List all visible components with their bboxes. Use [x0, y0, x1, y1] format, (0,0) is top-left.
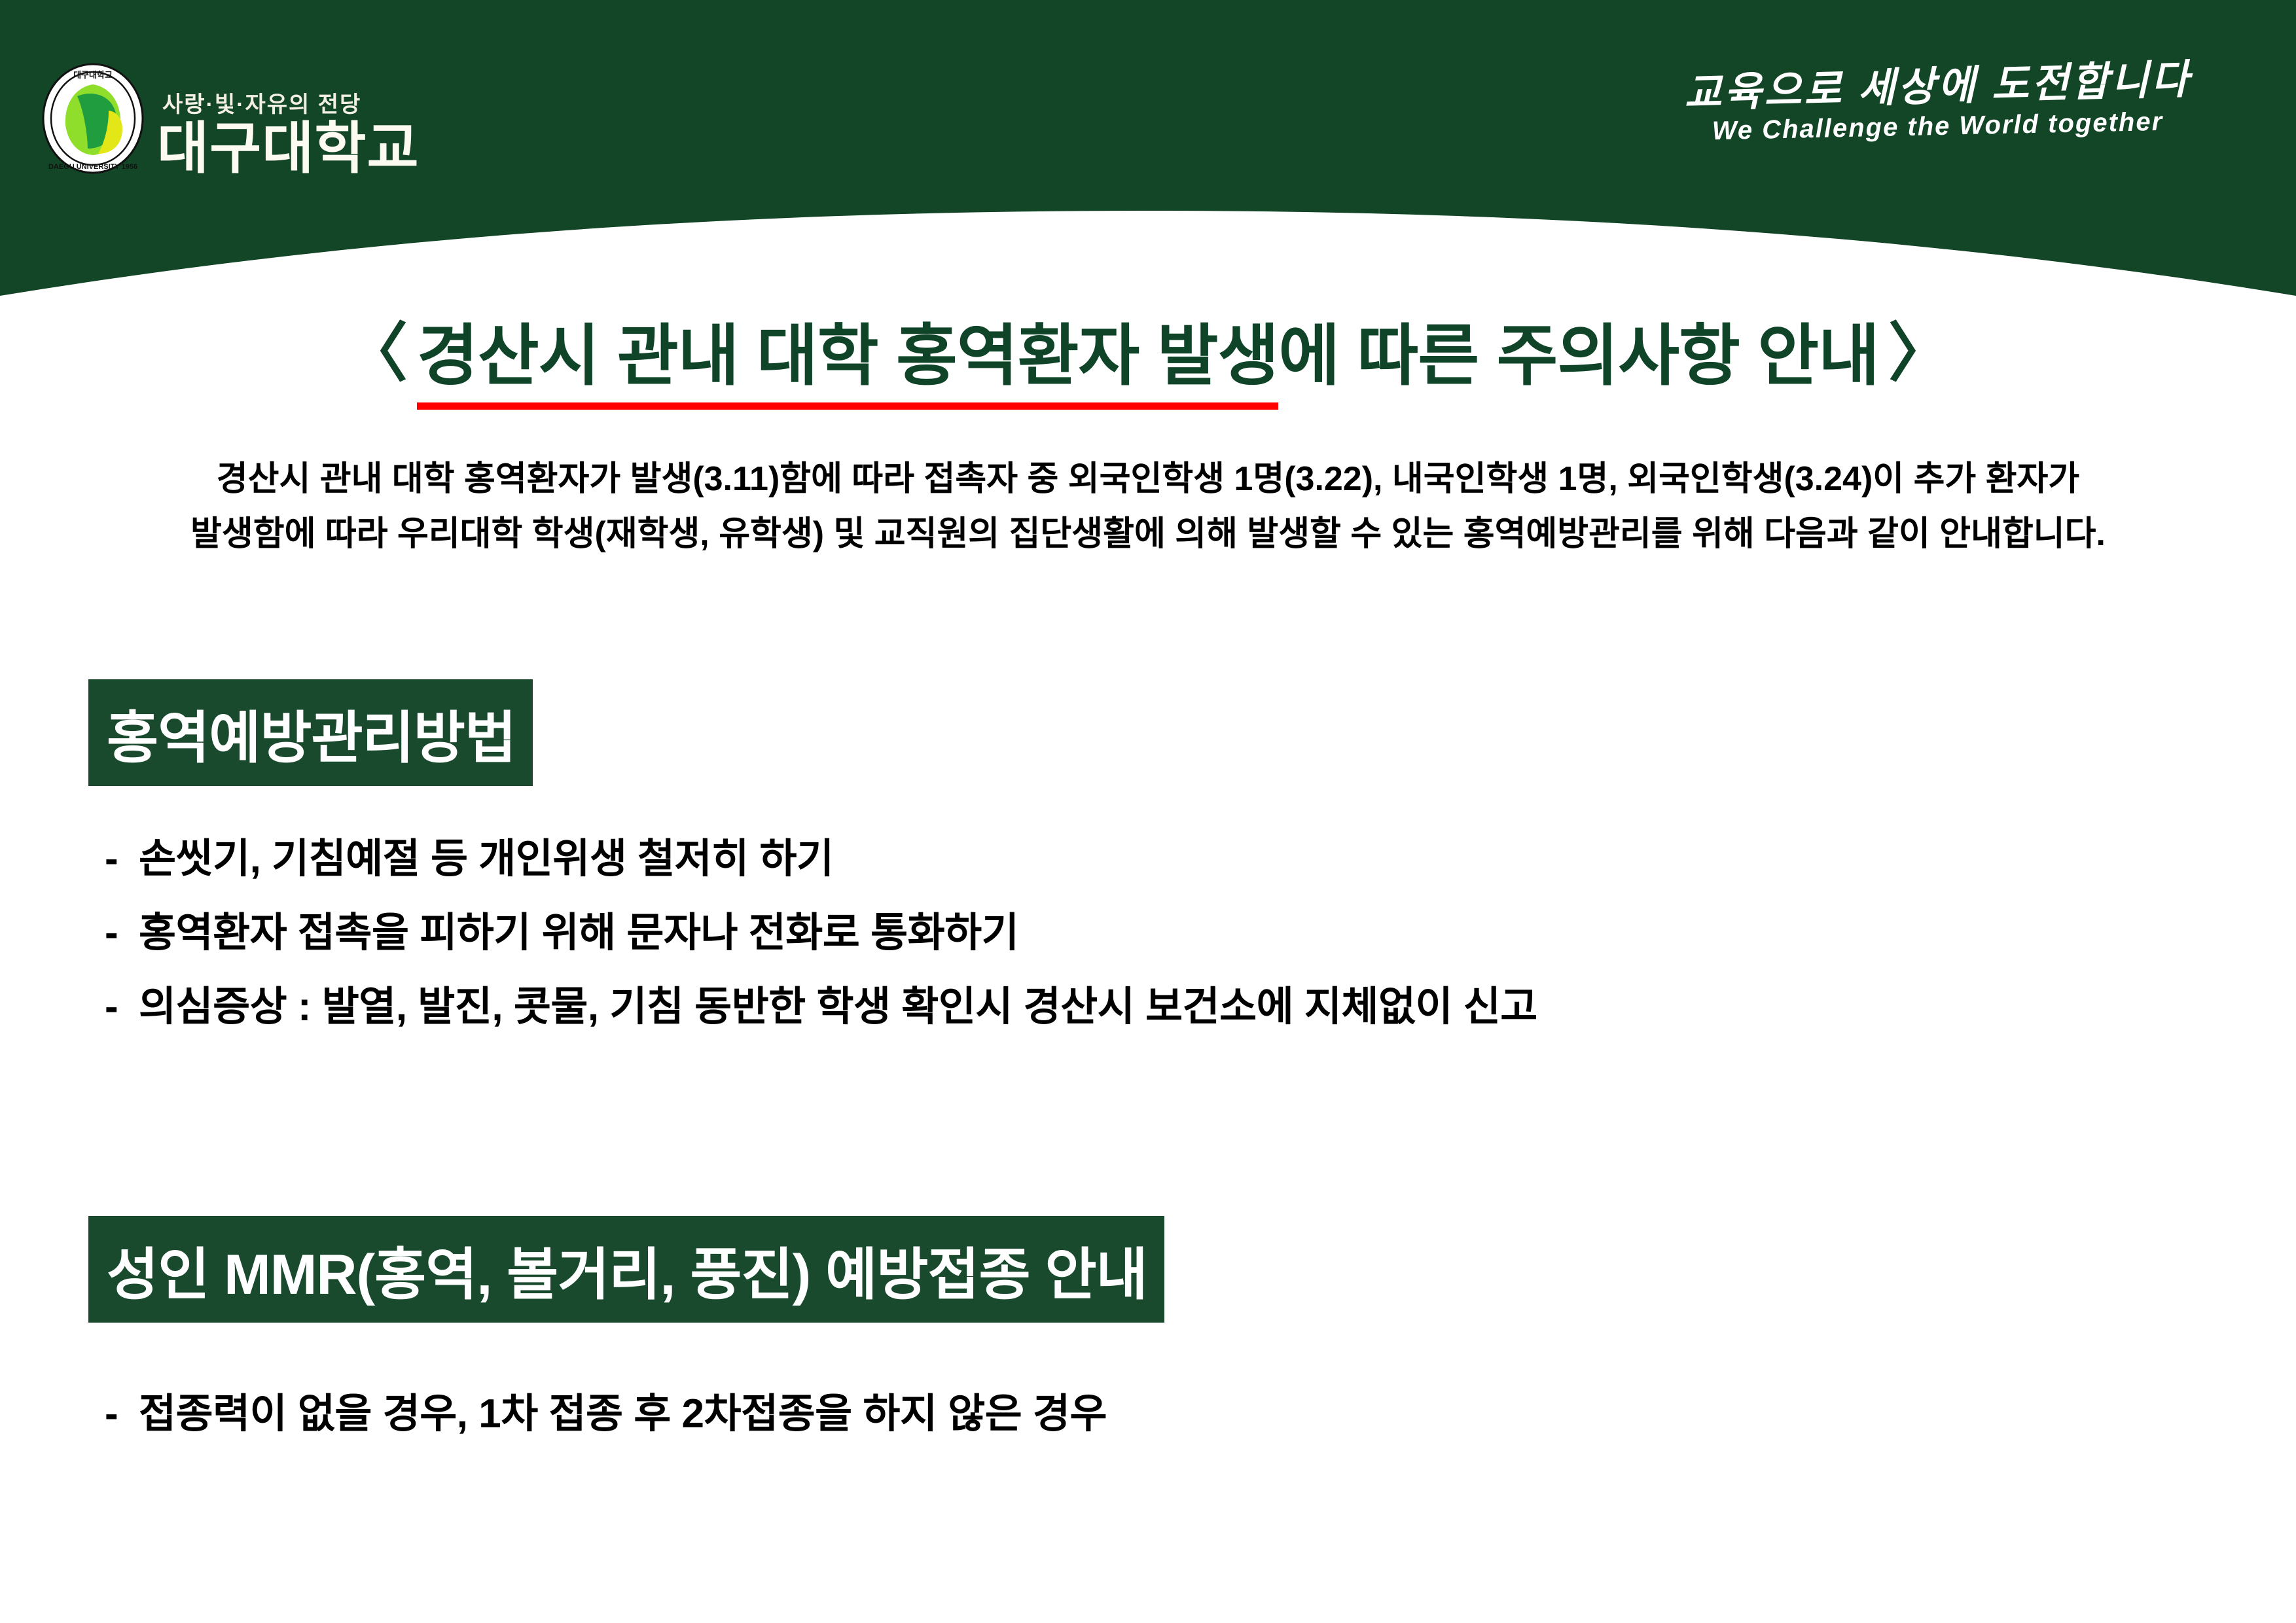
bullet-text: 의심증상 : 발열, 발진, 콧물, 기침 동반한 학생 확인시 경산시 보건소…	[139, 987, 1537, 1027]
list-item: - 손씻기, 기침예절 등 개인위생 철저히 하기	[105, 839, 1537, 880]
list-item: - 접종력이 없을 경우, 1차 접종 후 2차접종을 하지 않은 경우	[105, 1394, 1107, 1435]
university-brand: 대구대학교 DAEGU UNIVERSITY 1956 사랑·빛·자유의 전당 …	[41, 62, 420, 179]
list-item: - 의심증상 : 발열, 발진, 콧물, 기침 동반한 학생 확인시 경산시 보…	[105, 987, 1537, 1027]
title-underlined-part: 경산시 관내 대학 홍역환자 발생	[417, 315, 1278, 410]
bullet-dash: -	[105, 1394, 139, 1435]
bullet-dash: -	[105, 839, 139, 880]
bullet-dash: -	[105, 987, 139, 1027]
lead-line-2: 발생함에 따라 우리대학 학생(재학생, 유학생) 및 교직원의 집단생활에 의…	[0, 507, 2296, 562]
header-band: 대구대학교 DAEGU UNIVERSITY 1956 사랑·빛·자유의 전당 …	[0, 0, 2296, 308]
title-rest-part: 에 따른 주의사항 안내	[1278, 315, 1879, 399]
lead-paragraph: 경산시 관내 대학 홍역환자가 발생(3.11)함에 따라 접촉자 중 외국인학…	[0, 452, 2296, 562]
brand-tagline: 사랑·빛·자유의 전당	[162, 94, 420, 116]
bullet-list-mmr: - 접종력이 없을 경우, 1차 접종 후 2차접종을 하지 않은 경우	[105, 1394, 1107, 1468]
slogan-korean: 교육으로 세상에 도전합니다	[1683, 58, 2191, 115]
page-title: 〈경산시 관내 대학 홍역환자 발생에 따른 주의사항 안내〉	[0, 305, 2296, 410]
section-heading-mmr-vaccination: 성인 MMR(홍역, 볼거리, 풍진) 예방접종 안내	[88, 1216, 1164, 1323]
lead-line-1: 경산시 관내 대학 홍역환자가 발생(3.11)함에 따라 접촉자 중 외국인학…	[0, 452, 2296, 507]
brand-text-block: 사랑·빛·자유의 전당 대구대학교	[157, 94, 420, 179]
bullet-dash: -	[105, 913, 139, 954]
university-name: 대구대학교	[157, 122, 420, 176]
section-heading-prevention: 홍역예방관리방법	[88, 679, 533, 786]
svg-text:DAEGU UNIVERSITY 1956: DAEGU UNIVERSITY 1956	[48, 163, 137, 171]
bullet-text: 손씻기, 기침예절 등 개인위생 철저히 하기	[139, 839, 834, 880]
bullet-text: 접종력이 없을 경우, 1차 접종 후 2차접종을 하지 않은 경우	[139, 1394, 1107, 1435]
title-bracket-right: 〉	[1879, 317, 1962, 389]
bullet-list-prevention: - 손씻기, 기침예절 등 개인위생 철저히 하기 - 홍역환자 접촉을 피하기…	[105, 839, 1537, 1061]
university-slogan: 교육으로 세상에 도전합니다 We Challenge the World to…	[1684, 65, 2191, 141]
svg-text:대구대학교: 대구대학교	[73, 70, 113, 80]
list-item: - 홍역환자 접촉을 피하기 위해 문자나 전화로 통화하기	[105, 913, 1537, 954]
title-bracket-left: 〈	[334, 317, 417, 389]
bullet-text: 홍역환자 접촉을 피하기 위해 문자나 전화로 통화하기	[139, 913, 1018, 954]
university-emblem-icon: 대구대학교 DAEGU UNIVERSITY 1956	[41, 62, 145, 175]
